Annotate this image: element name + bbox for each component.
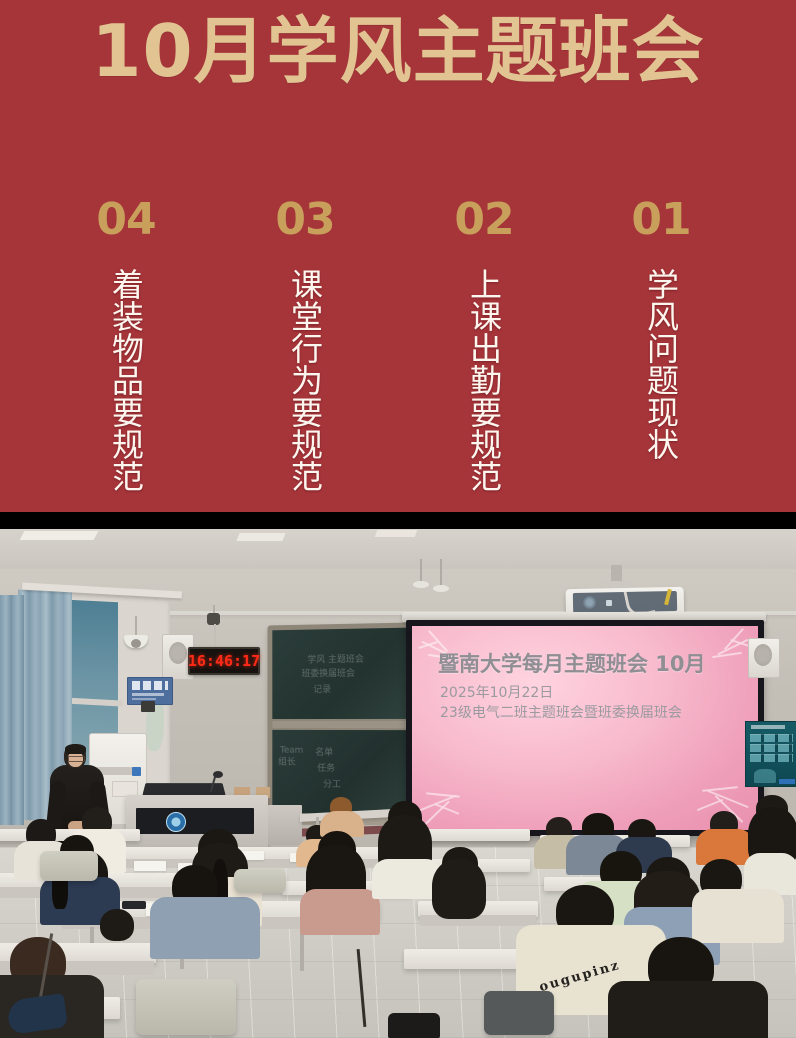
- lectern-front-panel: [136, 808, 254, 834]
- student-long-hair: [432, 859, 486, 919]
- topic-columns: 04 着装物品要规范 03 课堂行为要规范 02 上课出勤要规范 01 学风问题…: [0, 196, 796, 512]
- speaker-grill-icon: [169, 642, 187, 664]
- topic-number-01: 01: [611, 196, 711, 244]
- led-clock-time: 16:46:17: [188, 652, 260, 670]
- topic-text-02: 上课出勤要规范: [468, 268, 500, 492]
- classroom-photo: 16:46:17 学风 主题班会 班委换届班会 记录 Team 组长: [0, 529, 796, 1038]
- lectern-side-cabinet: [268, 805, 302, 845]
- projector-lens-icon: [583, 596, 596, 609]
- sign-text-line: [132, 698, 156, 700]
- topic-column-03: 03 课堂行为要规范: [255, 196, 355, 497]
- ceiling-light-icon: [236, 533, 285, 541]
- info-board-tag: [779, 779, 795, 784]
- chair: [136, 979, 236, 1035]
- slide-date: 2025年10月22日: [440, 682, 553, 702]
- blackboard-divider: [272, 721, 407, 728]
- chalk-text: Team: [280, 746, 303, 757]
- curtain: [0, 595, 24, 825]
- ac-badge-icon: [132, 767, 141, 776]
- chalk-text: 班委换届班会: [302, 669, 355, 681]
- info-board-row: [750, 744, 793, 752]
- info-board-row: [750, 754, 793, 762]
- camera-lens-icon: [131, 639, 141, 648]
- notebook-paper: [134, 861, 166, 871]
- chair: [484, 991, 554, 1035]
- chalk-text: 任务: [317, 764, 335, 775]
- ceiling-light-icon: [20, 531, 99, 540]
- wall-device-box: [141, 701, 155, 712]
- student-body: [692, 889, 784, 943]
- chalk-text: 学风 主题班会: [307, 655, 363, 667]
- pendant-head: [433, 585, 449, 592]
- sign-pictograms: [132, 681, 168, 690]
- phone-on-desk: [122, 901, 146, 909]
- blackboard-upper-panel: 学风 主题班会 班委换届班会 记录: [272, 628, 407, 719]
- slide-title: 暨南大学每月主题班会 10月: [438, 648, 706, 678]
- topic-text-04: 着装物品要规范: [110, 268, 142, 492]
- chalk-text: 组长: [278, 758, 296, 769]
- chalk-text: 分工: [323, 780, 341, 791]
- topic-column-04: 04 着装物品要规范: [76, 196, 176, 497]
- student-body: [150, 897, 260, 959]
- university-logo-icon: [166, 812, 186, 832]
- red-banner: 10月学风主题班会 04 着装物品要规范 03 课堂行为要规范 02 上课出勤要…: [0, 0, 796, 512]
- desk: [420, 829, 530, 841]
- page-title: 10月学风主题班会: [0, 8, 796, 94]
- poster-root: 10月学风主题班会 04 着装物品要规范 03 课堂行为要规范 02 上课出勤要…: [0, 0, 796, 1038]
- desk-apron: [420, 915, 536, 926]
- speaker-grill-icon: [754, 644, 772, 666]
- topic-number-02: 02: [434, 196, 534, 244]
- bamboo-leaf-icon: [416, 782, 476, 826]
- topic-column-02: 02 上课出勤要规范: [434, 196, 534, 497]
- topic-text-03: 课堂行为要规范: [289, 268, 321, 492]
- microphone-icon: [213, 771, 223, 778]
- info-board-logo: [754, 769, 776, 783]
- led-clock: 16:46:17: [188, 647, 260, 675]
- chair: [40, 851, 98, 881]
- topic-column-01: 01 学风问题现状: [611, 196, 711, 465]
- pendant-head: [413, 581, 429, 588]
- sign-text-line: [132, 693, 164, 696]
- student-body: [608, 981, 768, 1038]
- topic-number-04: 04: [76, 196, 176, 244]
- chalk-text: 记录: [313, 685, 331, 696]
- desk: [404, 949, 524, 969]
- chair: [234, 869, 286, 893]
- info-board-row: [750, 734, 793, 742]
- information-board: [745, 721, 796, 787]
- projection-screen: 暨南大学每月主题班会 10月 2025年10月22日 23级电气二班主题班会暨班…: [412, 626, 758, 830]
- slide-subtitle: 23级电气二班主题班会暨班委换届班会: [440, 702, 682, 722]
- presenter-hair: [65, 744, 86, 754]
- blackboard: 学风 主题班会 班委换届班会 记录 Team 组长 名单 任务 分工: [267, 622, 412, 821]
- student-body: [300, 889, 380, 935]
- topic-number-03: 03: [255, 196, 355, 244]
- topic-text-01: 学风问题现状: [645, 268, 677, 460]
- student-head: [100, 909, 134, 941]
- divider-band: [0, 512, 796, 529]
- chalk-text: 名单: [315, 748, 333, 759]
- ceiling-light-icon: [375, 530, 418, 537]
- projector-indicator-icon: [606, 600, 612, 606]
- info-board-title-line: [751, 725, 785, 729]
- bag-on-floor: [388, 1013, 440, 1038]
- glasses-icon: [68, 756, 85, 762]
